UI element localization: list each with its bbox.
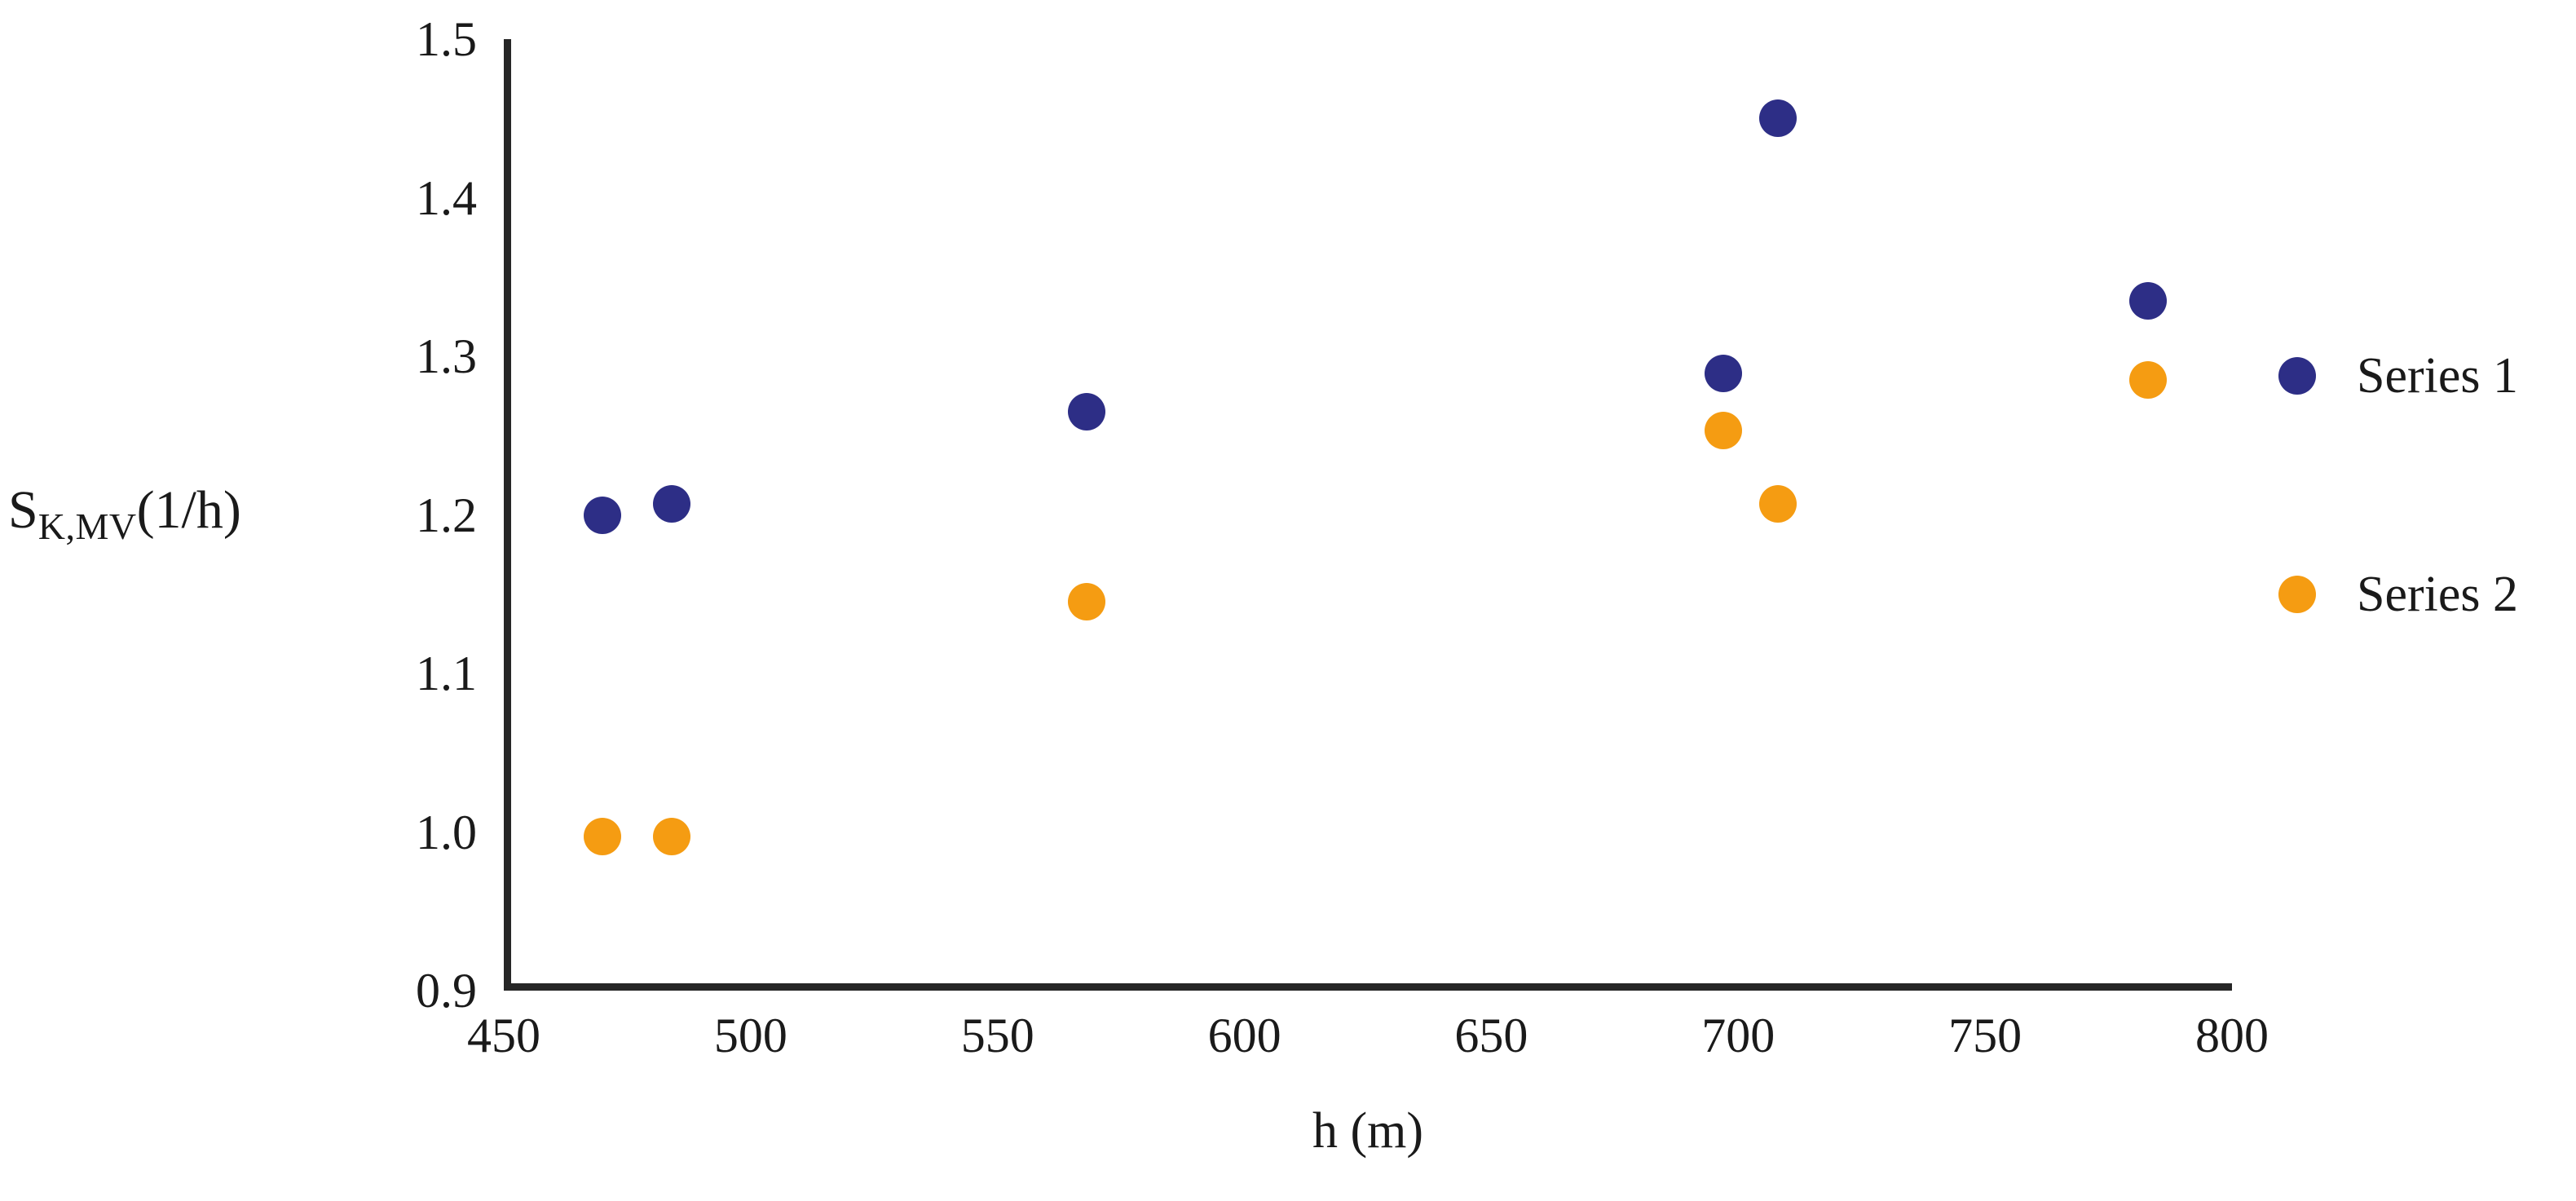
y-axis-line	[504, 39, 511, 991]
y-axis-title-symbol: S	[8, 480, 38, 540]
legend-item-label: Series 2	[2357, 569, 2518, 620]
legend-marker-icon	[2278, 357, 2316, 395]
x-axis-tick-label: 550	[961, 1011, 1034, 1060]
data-point-series-1	[1068, 393, 1105, 431]
y-axis-title-subscript: K,MV	[38, 506, 137, 547]
data-point-series-2	[584, 818, 621, 855]
plot-area	[504, 39, 2232, 991]
x-axis-tick-label: 600	[1208, 1011, 1281, 1060]
x-axis-tick-label: 500	[714, 1011, 787, 1060]
data-point-series-2	[1759, 485, 1797, 523]
y-axis-tick-label: 0.9	[416, 966, 477, 1015]
x-axis-tick-labels: 450500550600650700750800	[504, 1011, 2232, 1076]
y-axis-tick-label: 1.0	[416, 808, 477, 857]
y-axis-tick-label: 1.3	[416, 332, 477, 381]
data-point-series-2	[653, 818, 690, 855]
y-axis-title-unit: (1/h)	[137, 480, 241, 540]
data-point-series-1	[1705, 355, 1742, 392]
data-point-series-1	[653, 485, 690, 523]
x-axis-tick-label: 450	[467, 1011, 540, 1060]
data-point-series-1	[1759, 99, 1797, 137]
y-axis-tick-label: 1.5	[416, 15, 477, 64]
data-point-series-2	[2129, 361, 2167, 399]
legend-item[interactable]: Series 1	[2278, 351, 2518, 401]
x-axis-title: h (m)	[504, 1102, 2232, 1159]
y-axis-tick-label: 1.2	[416, 491, 477, 540]
data-point-series-1	[2129, 282, 2167, 320]
x-axis-line	[504, 983, 2232, 991]
x-axis-tick-label: 750	[1948, 1011, 2022, 1060]
scatter-chart-figure: 0.91.01.11.21.31.41.5 SK,MV(1/h) 4505005…	[0, 0, 2576, 1201]
y-axis-tick-label: 1.1	[416, 649, 477, 698]
x-axis-tick-label: 700	[1701, 1011, 1775, 1060]
legend-item-label: Series 1	[2357, 351, 2518, 401]
x-axis-tick-label: 800	[2195, 1011, 2269, 1060]
data-point-series-1	[584, 497, 621, 534]
legend-item[interactable]: Series 2	[2278, 569, 2518, 620]
y-axis-title: SK,MV(1/h)	[8, 481, 241, 556]
data-point-series-2	[1705, 412, 1742, 449]
legend-marker-icon	[2278, 576, 2316, 613]
y-axis-tick-label: 1.4	[416, 174, 477, 223]
data-point-series-2	[1068, 583, 1105, 620]
x-axis-tick-label: 650	[1454, 1011, 1528, 1060]
y-axis-tick-labels: 0.91.01.11.21.31.41.5	[326, 39, 477, 991]
